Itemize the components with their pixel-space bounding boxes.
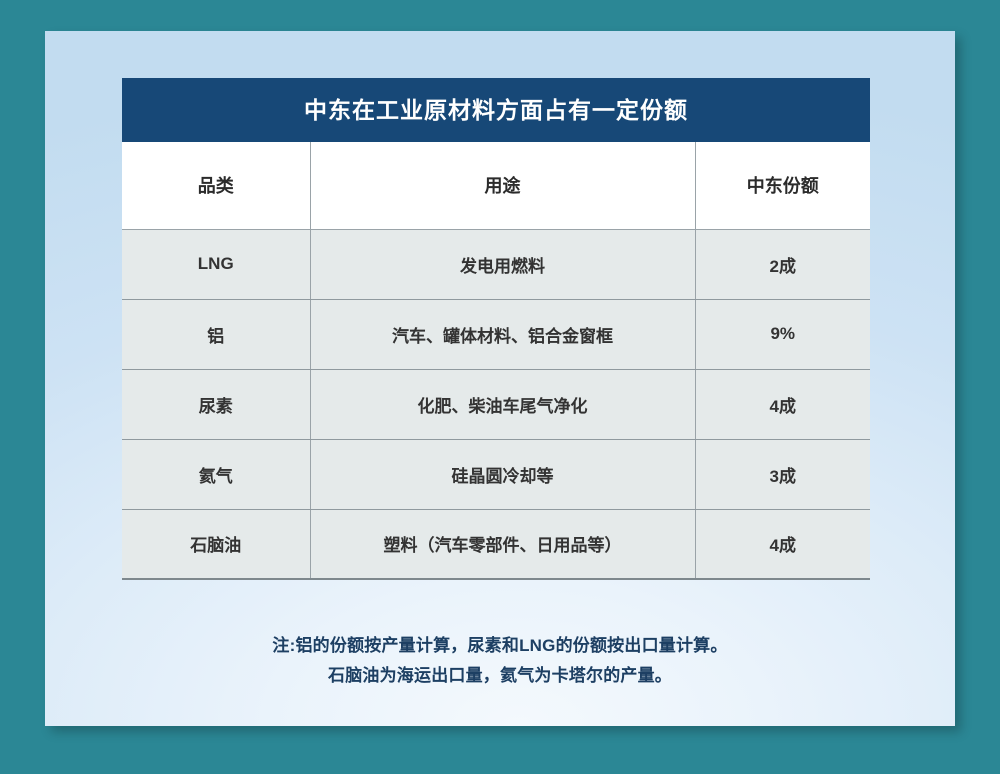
table-body: LNG 发电用燃料 2成 铝 汽车、罐体材料、铝合金窗框 9% 尿素 化肥、柴油… bbox=[122, 229, 870, 579]
cell-use: 化肥、柴油车尾气净化 bbox=[310, 369, 695, 439]
cell-share: 9% bbox=[695, 299, 870, 369]
cell-category: 石脑油 bbox=[122, 509, 310, 579]
footnote: 注:铝的份额按产量计算，尿素和LNG的份额按出口量计算。 石脑油为海运出口量，氦… bbox=[45, 631, 955, 691]
cell-share: 3成 bbox=[695, 439, 870, 509]
cell-category: 氦气 bbox=[122, 439, 310, 509]
materials-table: 品类 用途 中东份额 LNG 发电用燃料 2成 铝 汽车、罐体材料、铝合金窗框 … bbox=[122, 142, 870, 580]
table-title: 中东在工业原材料方面占有一定份额 bbox=[122, 78, 870, 142]
cell-use: 发电用燃料 bbox=[310, 229, 695, 299]
table-row: 氦气 硅晶圆冷却等 3成 bbox=[122, 439, 870, 509]
cell-share: 4成 bbox=[695, 369, 870, 439]
cell-share: 2成 bbox=[695, 229, 870, 299]
table-header: 品类 用途 中东份额 bbox=[122, 142, 870, 229]
table-header-row: 品类 用途 中东份额 bbox=[122, 142, 870, 229]
column-header-use: 用途 bbox=[310, 142, 695, 229]
cell-category: LNG bbox=[122, 229, 310, 299]
data-table-container: 中东在工业原材料方面占有一定份额 品类 用途 中东份额 LNG 发电用燃料 bbox=[122, 78, 870, 580]
cell-category: 铝 bbox=[122, 299, 310, 369]
column-header-share: 中东份额 bbox=[695, 142, 870, 229]
table-row: 尿素 化肥、柴油车尾气净化 4成 bbox=[122, 369, 870, 439]
table-row: 铝 汽车、罐体材料、铝合金窗框 9% bbox=[122, 299, 870, 369]
content-card: 中东在工业原材料方面占有一定份额 品类 用途 中东份额 LNG 发电用燃料 bbox=[45, 31, 955, 726]
page-background: 中东在工业原材料方面占有一定份额 品类 用途 中东份额 LNG 发电用燃料 bbox=[0, 0, 1000, 774]
cell-use: 汽车、罐体材料、铝合金窗框 bbox=[310, 299, 695, 369]
cell-category: 尿素 bbox=[122, 369, 310, 439]
footnote-line-2: 石脑油为海运出口量，氦气为卡塔尔的产量。 bbox=[45, 661, 955, 691]
table-row: LNG 发电用燃料 2成 bbox=[122, 229, 870, 299]
column-header-category: 品类 bbox=[122, 142, 310, 229]
cell-use: 塑料（汽车零部件、日用品等） bbox=[310, 509, 695, 579]
cell-share: 4成 bbox=[695, 509, 870, 579]
table-row: 石脑油 塑料（汽车零部件、日用品等） 4成 bbox=[122, 509, 870, 579]
cell-use: 硅晶圆冷却等 bbox=[310, 439, 695, 509]
footnote-line-1: 注:铝的份额按产量计算，尿素和LNG的份额按出口量计算。 bbox=[45, 631, 955, 661]
